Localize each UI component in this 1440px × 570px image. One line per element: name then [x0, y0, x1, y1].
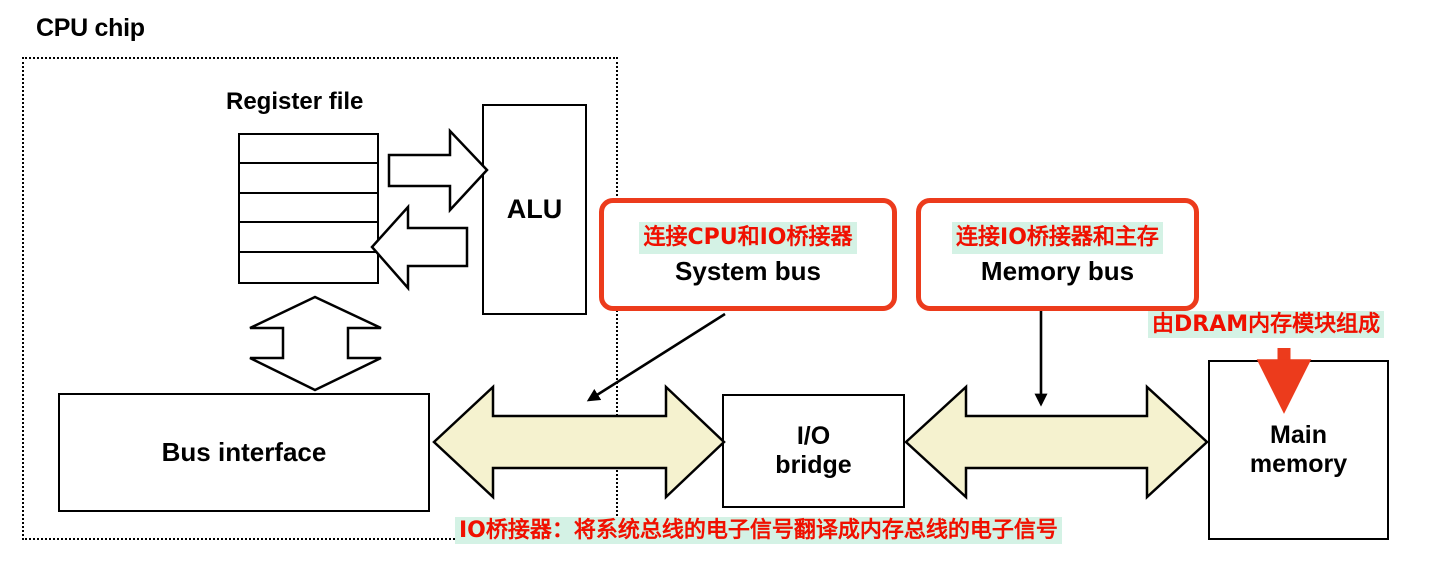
bus-interface-block: Bus interface: [58, 393, 430, 512]
memory-bus-label: Memory bus: [981, 256, 1134, 287]
alu-block: ALU: [482, 104, 587, 315]
io-bridge-label-line2: bridge: [775, 451, 851, 479]
register-row: [240, 253, 377, 282]
register-row: [240, 164, 377, 193]
io-bridge-label: I/O bridge: [724, 396, 903, 506]
main-memory-label-line1: Main: [1270, 421, 1327, 449]
bus-interface-label: Bus interface: [60, 395, 428, 510]
main-memory-block: Main memory: [1208, 360, 1389, 540]
io-bridge-annotation-text: IO桥接器：将系统总线的电子信号翻译成内存总线的电子信号: [455, 517, 1062, 544]
register-row: [240, 135, 377, 164]
dram-annotation: 由DRAM内存模块组成: [1148, 310, 1384, 340]
register-file-title: Register file: [226, 88, 363, 116]
dram-annotation-text: 由DRAM内存模块组成: [1148, 311, 1384, 338]
alu-label: ALU: [484, 106, 585, 313]
register-row: [240, 194, 377, 223]
io-bridge-label-line1: I/O: [797, 422, 830, 450]
io-bridge-annotation: IO桥接器：将系统总线的电子信号翻译成内存总线的电子信号: [455, 516, 1062, 546]
system-bus-label: System bus: [675, 256, 821, 287]
io-bridge-block: I/O bridge: [722, 394, 905, 508]
arrow-bidirectional-horizontal-memory-bus: [906, 387, 1207, 497]
memory-bus-chinese-note: 连接IO桥接器和主存: [952, 222, 1163, 254]
system-bus-callout: 连接CPU和IO桥接器 System bus: [599, 198, 897, 311]
diagram-canvas: CPU chip Register file ALU Bus interface…: [0, 0, 1440, 570]
register-file-block: [238, 133, 379, 284]
memory-bus-callout: 连接IO桥接器和主存 Memory bus: [916, 198, 1199, 311]
main-memory-label: Main memory: [1210, 362, 1387, 538]
page-title: CPU chip: [36, 14, 145, 43]
main-memory-label-line2: memory: [1250, 450, 1347, 478]
system-bus-chinese-note: 连接CPU和IO桥接器: [639, 222, 856, 254]
register-row: [240, 223, 377, 252]
